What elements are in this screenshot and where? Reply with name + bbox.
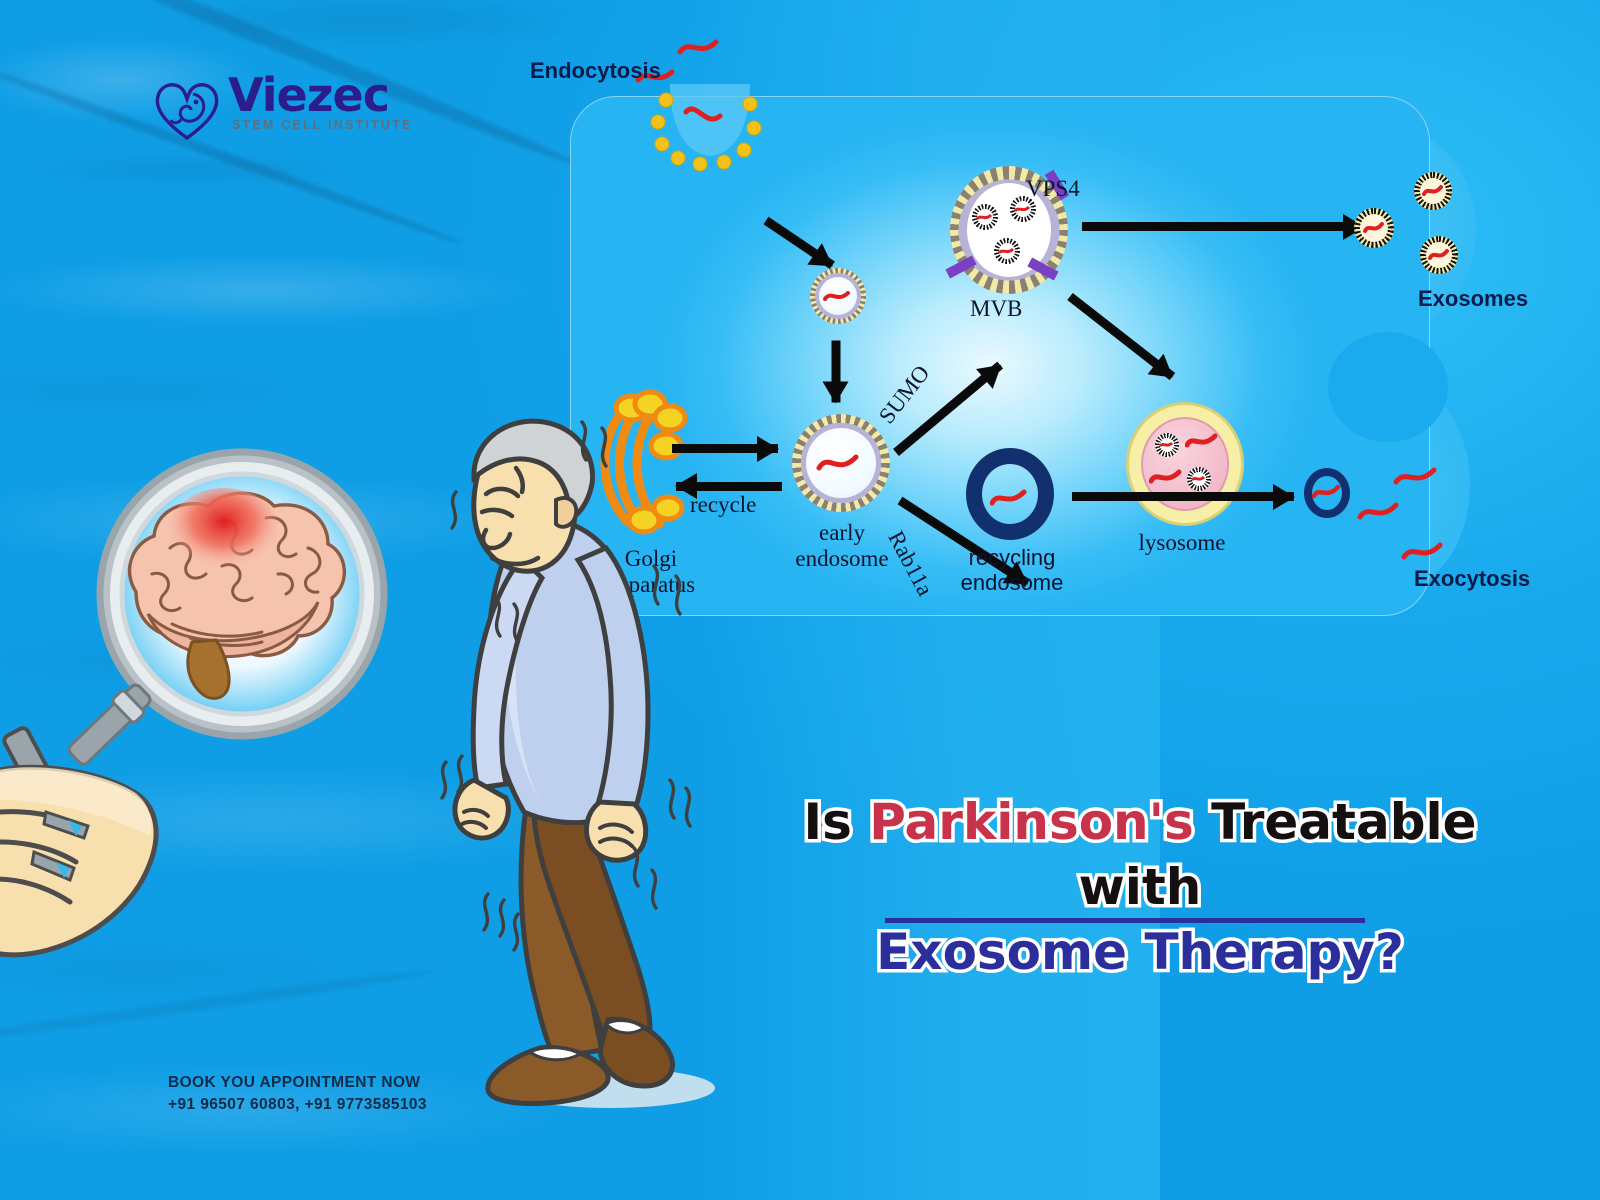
degraded-vesicle [1155,433,1179,457]
early-endosome [792,414,890,512]
degraded-vesicle [1187,467,1211,491]
exocytosis-vesicle [1304,468,1350,518]
label-vps4: VPS4 [1026,176,1080,202]
label-exocytosis: Exocytosis [1414,566,1530,592]
label-exosomes: Exosomes [1418,286,1528,312]
arrow-vesicle-to-early-endosome [832,341,841,403]
hand-holding-magnifier [0,740,218,1000]
brand-logo[interactable]: Viezec STEM CELL INSTITUTE [152,72,422,148]
label-lysosome: lysosome [1118,530,1246,556]
infographic-canvas: Viezec STEM CELL INSTITUTE [0,0,1600,1200]
headline-highlight: Parkinson's [869,793,1193,851]
label-recycling-endosome: recycling endosome [950,546,1074,595]
cargo-squiggle [676,32,736,60]
cell-membrane-notch [1328,332,1448,442]
magnifier-brain-illustration [92,446,402,766]
cta-phone-numbers[interactable]: +91 96507 60803, +91 9773585103 [168,1094,427,1116]
recycling-endosome [966,448,1054,540]
exosome-particle [1414,172,1452,210]
brand-name: Viezec [228,68,389,122]
exosome-particle [1420,236,1458,274]
released-cargo-squiggle [1356,498,1410,526]
intraluminal-vesicle [972,204,998,230]
headline-part1: Is [803,793,869,851]
intraluminal-vesicle [994,238,1020,264]
appointment-cta[interactable]: BOOK YOU APPOINTMENT NOW +91 96507 60803… [168,1072,427,1117]
exosome-particle [1354,208,1394,248]
magnifying-glass-icon [92,446,412,776]
label-early-endosome: early endosome [788,520,896,572]
parkinsons-patient-illustration [430,408,740,1118]
endocytic-vesicle [810,268,866,324]
brand-tagline: STEM CELL INSTITUTE [232,118,412,132]
arrow-recycling-to-exocytosis [1072,492,1294,501]
page-headline: Is Parkinson's Treatable with Exosome Th… [760,790,1520,985]
heart-embryo-icon [152,74,222,144]
label-mvb: MVB [970,296,1022,322]
lysosome [1126,402,1244,526]
released-cargo-squiggle [1392,462,1448,492]
headline-underline [885,918,1365,923]
headline-line2: Exosome Therapy? [760,920,1520,985]
arrow-mvb-to-exosomes [1082,222,1364,231]
endocytic-pit-icon [620,78,800,218]
released-cargo-squiggle [1400,538,1454,566]
label-endocytosis: Endocytosis [530,58,661,84]
cta-line1: BOOK YOU APPOINTMENT NOW [168,1072,427,1094]
